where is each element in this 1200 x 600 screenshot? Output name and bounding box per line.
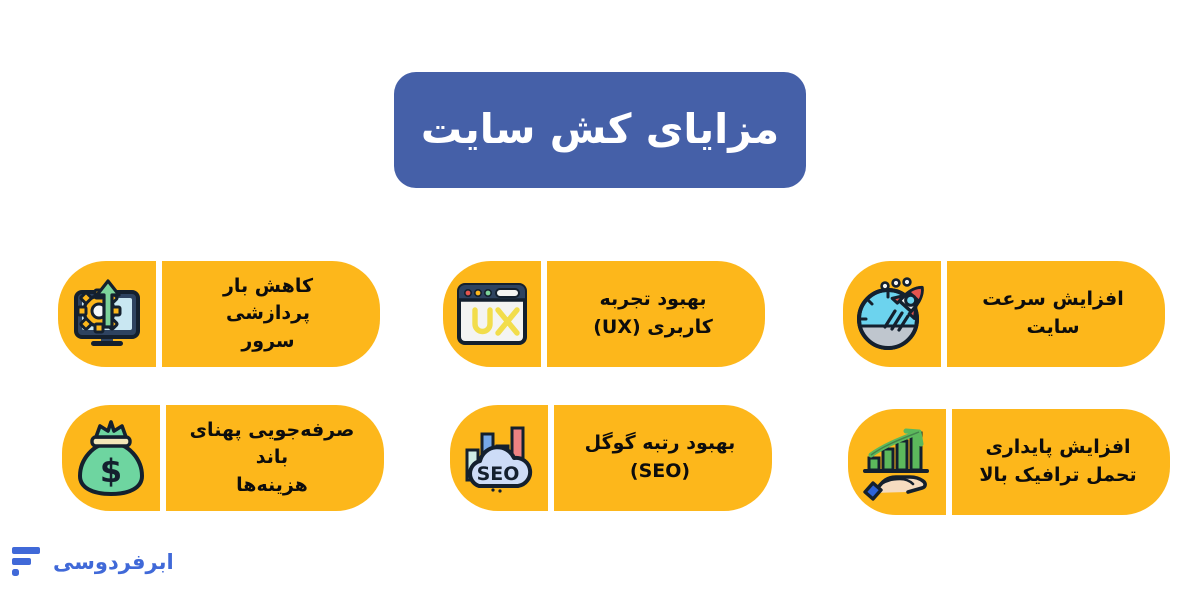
benefit-card-4-text: صرفه‌جویی پهنای باند هزینه‌ها [166, 405, 384, 511]
benefit-card-5-text: بهبود رتبه گوگل (SEO) [554, 405, 772, 511]
brand-logo: ابرفردوسی [10, 544, 174, 580]
benefit-card-2[interactable]: بهبود تجربه کاربری (UX) [443, 261, 765, 367]
benefit-card-2-text: بهبود تجربه کاربری (UX) [547, 261, 765, 367]
benefit-card-1-text: کاهش بار پردازشی سرور [162, 261, 380, 367]
brand-logo-text: ابرفردوسی [53, 552, 174, 573]
hand-growth-chart-icon [848, 409, 946, 515]
benefit-card-3[interactable]: افزایش سرعت سایت [843, 261, 1165, 367]
benefit-card-5[interactable]: بهبود رتبه گوگل (SEO) SEO [450, 405, 772, 511]
benefit-card-6-text: افزایش پایداری تحمل ترافیک بالا [952, 409, 1170, 515]
money-bag-icon: $ [62, 405, 160, 511]
benefit-card-1[interactable]: کاهش بار پردازشی سرور [58, 261, 380, 367]
seo-glyph: SEO [477, 463, 520, 485]
monitor-gear-arrow-icon [58, 261, 156, 367]
cloud-seo-chart-icon: SEO [450, 405, 548, 511]
rocket-speedometer-icon [843, 261, 941, 367]
benefit-card-2-label: بهبود تجربه کاربری (UX) [593, 286, 713, 341]
benefit-card-5-label: بهبود رتبه گوگل (SEO) [585, 430, 736, 485]
dollar-glyph: $ [100, 452, 122, 490]
benefit-card-6[interactable]: افزایش پایداری تحمل ترافیک بالا [848, 409, 1170, 515]
benefit-card-4-label: صرفه‌جویی پهنای باند هزینه‌ها [182, 417, 362, 500]
benefit-card-3-text: افزایش سرعت سایت [947, 261, 1165, 367]
infographic-canvas: مزایای کش سایت کاهش بار پردازشی سرور [0, 0, 1200, 600]
ferdowsi-f-mark-icon [10, 544, 44, 580]
benefit-card-1-label: کاهش بار پردازشی سرور [178, 273, 358, 356]
benefit-card-6-label: افزایش پایداری تحمل ترافیک بالا [979, 434, 1136, 489]
browser-ux-icon [443, 261, 541, 367]
benefit-card-4[interactable]: صرفه‌جویی پهنای باند هزینه‌ها $ [62, 405, 384, 511]
benefits-grid: کاهش بار پردازشی سرور [0, 0, 1200, 600]
benefit-card-3-label: افزایش سرعت سایت [963, 286, 1143, 341]
